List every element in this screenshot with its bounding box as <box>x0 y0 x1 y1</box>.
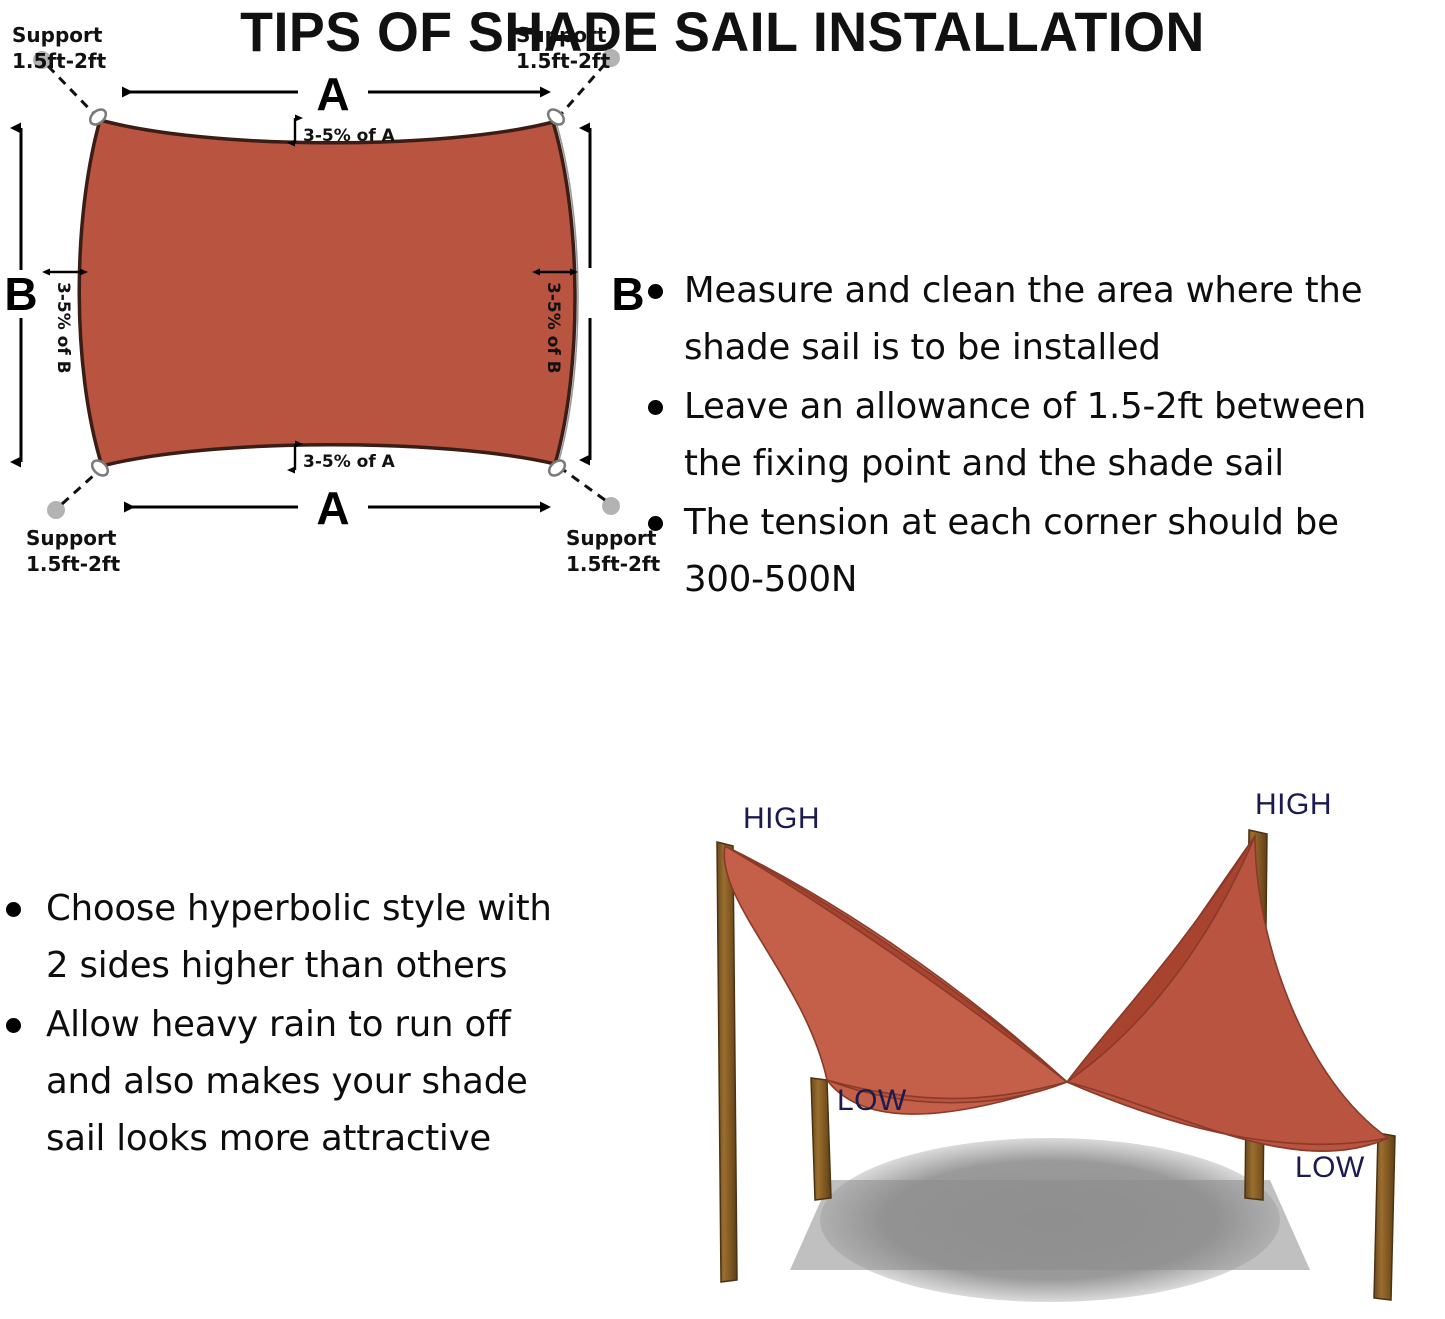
hyperbolic-tips-list: Choose hyperbolic style with 2 sides hig… <box>0 880 640 1210</box>
bullet-dot-icon <box>6 1018 21 1033</box>
post-label-right-high: HIGH <box>1255 788 1332 821</box>
rectangular-sail-diagram: A 3-5% of A A 3-5% of A B 3-5% of B <box>0 0 660 600</box>
curvature-a-top: 3-5% of A <box>295 118 396 146</box>
list-item: Allow heavy rain to run off and also mak… <box>0 996 640 1167</box>
support-label-top-left: Support 1.5ft-2ft <box>12 23 107 73</box>
ground-shadow-quad <box>790 1180 1310 1270</box>
bullet-dot-icon <box>648 284 663 299</box>
dimension-a-bottom: A <box>124 482 540 534</box>
bullet-dot-icon <box>648 400 663 415</box>
support-top-right-line1: Support <box>516 23 607 47</box>
tether-top-left <box>48 66 100 120</box>
post-label-front-low: LOW <box>837 1084 907 1117</box>
curvature-a-bottom: 3-5% of A <box>295 444 396 472</box>
bullet-dot-icon <box>648 516 663 531</box>
sail-lobe-left <box>724 846 1067 1114</box>
tip-line: 2 sides higher than others <box>46 945 507 986</box>
rect-sail-svg: A 3-5% of A A 3-5% of A B 3-5% of B <box>0 0 660 600</box>
curvature-label-b-right: 3-5% of B <box>543 282 563 374</box>
support-label-top-right: Support 1.5ft-2ft <box>516 23 611 73</box>
tips-bullets: Measure and clean the area where the sha… <box>640 262 1445 608</box>
post-label-left-high: HIGH <box>743 802 820 835</box>
hyperbolic-bullets: Choose hyperbolic style with 2 sides hig… <box>0 880 640 1167</box>
dimension-b-left: B <box>4 128 37 462</box>
post-right-low <box>1374 1133 1395 1300</box>
dimension-label-a-bottom: A <box>316 482 349 534</box>
curvature-b-left: 3-5% of B <box>50 272 80 374</box>
list-item: Measure and clean the area where the sha… <box>640 262 1445 376</box>
list-item: Leave an allowance of 1.5-2ft between th… <box>640 378 1445 492</box>
curvature-label-a-top: 3-5% of A <box>303 126 396 146</box>
bullet-dot-icon <box>6 902 21 917</box>
dimension-a-top: A <box>122 68 540 120</box>
shade-sail-shape <box>79 120 575 466</box>
hyperbolic-sail-diagram: HIGH HIGH LOW LOW <box>655 780 1445 1319</box>
support-top-left-line2: 1.5ft-2ft <box>12 49 107 73</box>
tip-line: the fixing point and the shade sail <box>684 443 1284 484</box>
curvature-label-b-left: 3-5% of B <box>53 282 73 374</box>
dimension-label-a-top: A <box>316 68 349 120</box>
tip-line: Choose hyperbolic style with <box>46 888 552 929</box>
tip-line: shade sail is to be installed <box>684 327 1161 368</box>
tip-line: 300-500N <box>684 559 857 600</box>
curvature-label-a-bottom: 3-5% of A <box>303 452 396 472</box>
support-bottom-left-line2: 1.5ft-2ft <box>26 552 121 576</box>
installation-tips-list: Measure and clean the area where the sha… <box>640 262 1445 662</box>
support-label-bottom-left: Support 1.5ft-2ft <box>26 526 121 576</box>
support-top-left-line1: Support <box>12 23 103 47</box>
list-item: The tension at each corner should be 300… <box>640 494 1445 608</box>
tip-line: The tension at each corner should be <box>684 502 1339 543</box>
tether-bottom-right <box>558 466 605 500</box>
post-left-high <box>717 842 737 1282</box>
hyperbolic-sail-svg: HIGH HIGH LOW LOW <box>655 780 1445 1319</box>
support-bottom-left-line1: Support <box>26 526 117 550</box>
tip-line: and also makes your shade <box>46 1061 528 1102</box>
dimension-b-right: B <box>590 128 645 460</box>
tip-line: Measure and clean the area where the <box>684 270 1362 311</box>
list-item: Choose hyperbolic style with 2 sides hig… <box>0 880 640 994</box>
tip-line: sail looks more attractive <box>46 1118 491 1159</box>
post-front-low <box>811 1078 831 1200</box>
support-top-right-line2: 1.5ft-2ft <box>516 49 611 73</box>
tip-line: Allow heavy rain to run off <box>46 1004 511 1045</box>
post-label-right-low: LOW <box>1295 1151 1365 1184</box>
dimension-label-b-left: B <box>4 268 37 320</box>
tip-line: Leave an allowance of 1.5-2ft between <box>684 386 1366 427</box>
